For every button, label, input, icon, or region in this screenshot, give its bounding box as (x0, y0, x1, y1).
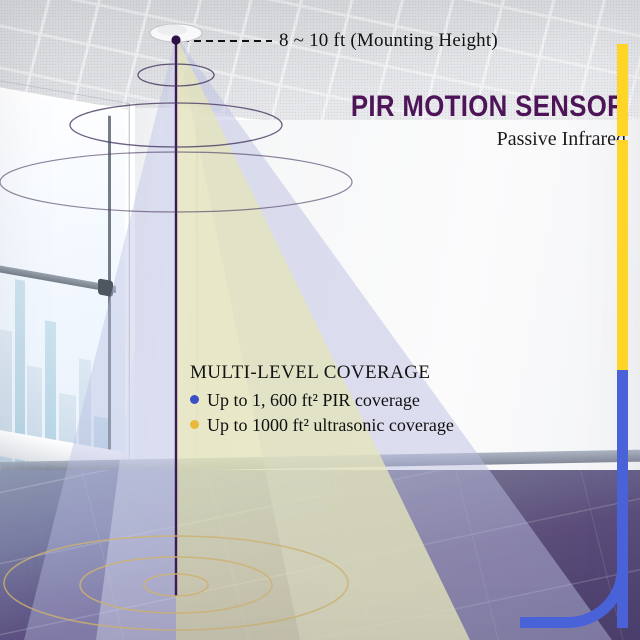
mounting-height-label: 8 ~ 10 ft (Mounting Height) (279, 30, 498, 52)
coverage-item-label: Up to 1, 600 ft² PIR coverage (207, 390, 420, 411)
bullet-dot-ultrasonic-icon (190, 420, 199, 429)
coverage-heading: MULTI-LEVEL COVERAGE (190, 362, 454, 384)
sensor-lens-dot (171, 35, 180, 44)
list-item: Up to 1, 600 ft² PIR coverage (190, 390, 454, 411)
accent-stripe-yellow-top (617, 44, 628, 136)
coverage-item-label: Up to 1000 ft² ultrasonic coverage (207, 415, 454, 436)
coverage-block: MULTI-LEVEL COVERAGE Up to 1, 600 ft² PI… (190, 362, 454, 436)
list-item: Up to 1000 ft² ultrasonic coverage (190, 415, 454, 436)
sensor-puck-dome (157, 25, 187, 36)
page-title: PIR MOTION SENSOR (351, 92, 626, 122)
bullet-dot-pir-icon (190, 395, 199, 404)
pir-motion-sensor-infographic: 8 ~ 10 ft (Mounting Height) PIR MOTION S… (0, 0, 640, 640)
accent-stripe-yellow-middle (617, 140, 628, 372)
title-block: PIR MOTION SENSOR Passive Infrared (306, 92, 626, 151)
page-subtitle: Passive Infrared (306, 128, 626, 151)
coverage-list: Up to 1, 600 ft² PIR coverage Up to 1000… (190, 390, 454, 436)
